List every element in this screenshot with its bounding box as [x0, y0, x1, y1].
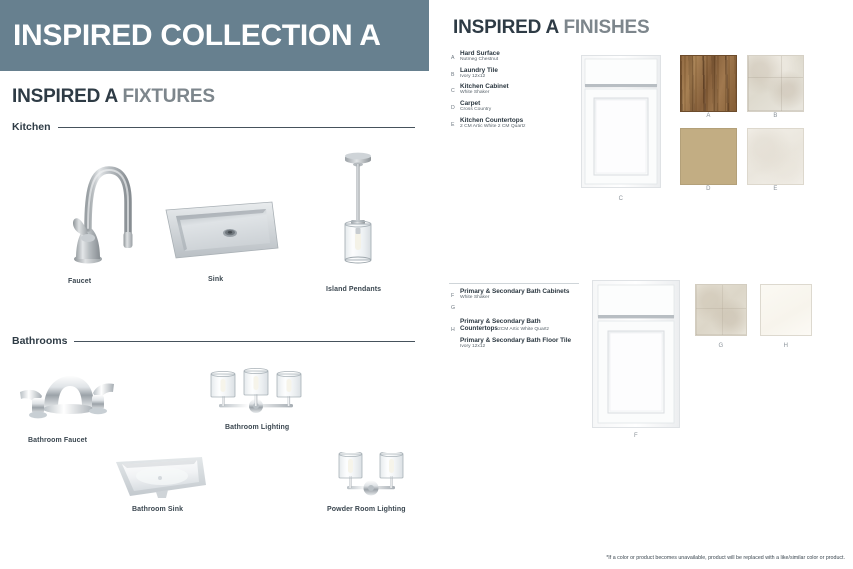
swatch-label-f: F — [592, 433, 680, 439]
group-rule-kitchen — [58, 127, 415, 128]
legend-item-d: D Carpet Cross Country — [451, 100, 586, 113]
legend-item-h: H Primary & Secondary Bath Countertops2C… — [451, 318, 591, 333]
legend-sub-c: White Shaker — [460, 90, 509, 95]
finishes-title-light: FINISHES — [563, 17, 649, 38]
finishes-title-strong: INSPIRED A — [453, 17, 558, 38]
fixture-caption-island-pendants: Island Pendants — [326, 286, 381, 293]
collection-board: INSPIRED COLLECTION A INSPIRED A FIXTURE… — [0, 0, 853, 569]
finishes-column: INSPIRED A FINISHES A Hard Surface Nutme… — [440, 0, 853, 569]
fixtures-column: INSPIRED COLLECTION A INSPIRED A FIXTURE… — [0, 0, 440, 569]
bathroom-sink-image — [110, 452, 210, 502]
powder-room-light-image — [333, 452, 409, 504]
swatch-label-c: C — [581, 196, 661, 202]
laundry-tile-swatch — [747, 55, 804, 112]
kitchen-faucet-image — [62, 146, 134, 266]
group-label-bathrooms: Bathrooms — [12, 335, 74, 347]
kitchen-sink-image — [160, 196, 280, 262]
swatch-label-b: B — [747, 113, 804, 119]
group-header-bathrooms: Bathrooms — [12, 335, 415, 347]
fixtures-section-title: INSPIRED A FIXTURES — [12, 86, 215, 108]
legend-item-c: C Kitchen Cabinet White Shaker — [451, 83, 586, 96]
legend-sub-b: Ivory 12x12 — [460, 74, 498, 79]
swatch-label-h: H — [760, 343, 812, 349]
legend-key-c: C — [451, 83, 460, 94]
legend-sub-a: Nutmeg Chestnut — [460, 57, 500, 62]
legend-item-a: A Hard Surface Nutmeg Chestnut — [451, 50, 586, 63]
fixture-caption-bathroom-sink: Bathroom Sink — [132, 506, 183, 513]
legend-sub-h: 2CM Artic White Quartz — [498, 327, 549, 332]
legend-sub-f: White Shaker — [460, 295, 569, 300]
bath-cabinet-swatch — [592, 280, 680, 428]
legend-item-g: G — [451, 305, 591, 314]
legend-key-a: A — [451, 50, 460, 61]
legend-key-f: F — [451, 288, 460, 299]
page-title: INSPIRED COLLECTION A — [0, 19, 381, 53]
legend-item-e: E Kitchen Countertops 2 CM Artic White 2… — [451, 117, 586, 130]
legend-sub-e: 2 CM Artic White 2 CM Quartz — [460, 124, 526, 129]
legend-divider — [449, 283, 579, 284]
finishes-legend-top: A Hard Surface Nutmeg Chestnut B Laundry… — [451, 50, 586, 133]
legend-name-e: Kitchen Countertops — [460, 117, 526, 124]
bath-floor-tile-swatch — [695, 284, 747, 336]
legend-key-e: E — [451, 117, 460, 128]
legend-item-f: F Primary & Secondary Bath Cabinets Whit… — [451, 288, 591, 301]
island-pendant-image — [335, 150, 381, 270]
legend-sub-d: Cross Country — [460, 107, 491, 112]
swatch-label-d: D — [680, 186, 737, 192]
swatch-label-e: E — [747, 186, 804, 192]
group-header-kitchen: Kitchen — [12, 121, 415, 133]
swatch-label-a: A — [680, 113, 737, 119]
hard-surface-swatch — [680, 55, 737, 112]
finishes-section-title: INSPIRED A FINISHES — [453, 17, 649, 39]
page-banner: INSPIRED COLLECTION A — [0, 0, 429, 71]
legend-key-floor-tile — [451, 337, 460, 342]
legend-key-g: G — [451, 305, 460, 311]
carpet-swatch — [680, 128, 737, 185]
fixtures-title-strong: INSPIRED A — [12, 86, 117, 107]
group-rule-bathrooms — [74, 341, 415, 342]
legend-item-b: B Laundry Tile Ivory 12x12 — [451, 67, 586, 80]
bathroom-faucet-image — [8, 362, 118, 422]
legend-name-b: Laundry Tile — [460, 67, 498, 74]
fixture-caption-bathroom-faucet: Bathroom Faucet — [28, 437, 87, 444]
fixture-caption-powder-room-lighting: Powder Room Lighting — [327, 506, 406, 513]
finishes-legend-bottom: F Primary & Secondary Bath Cabinets Whit… — [451, 288, 591, 353]
legend-key-h: H — [451, 318, 460, 333]
legend-name-floor-tile: Primary & Secondary Bath Floor Tile — [460, 337, 571, 344]
kitchen-countertop-swatch — [747, 128, 804, 185]
fixtures-title-light: FIXTURES — [122, 86, 214, 107]
legend-key-d: D — [451, 100, 460, 111]
kitchen-cabinet-swatch — [581, 55, 661, 188]
bath-countertop-swatch — [760, 284, 812, 336]
legend-sub-floor-tile: Ivory 12x12 — [460, 344, 571, 349]
legend-item-floor-tile: Primary & Secondary Bath Floor Tile Ivor… — [451, 337, 591, 350]
group-label-kitchen: Kitchen — [12, 121, 58, 133]
fixture-caption-bathroom-lighting: Bathroom Lighting — [225, 424, 289, 431]
legend-key-b: B — [451, 67, 460, 78]
footnote-disclaimer: *If a color or product becomes unavailab… — [606, 555, 845, 561]
fixture-caption-sink: Sink — [208, 276, 223, 283]
swatch-label-g: G — [695, 343, 747, 349]
fixture-caption-faucet: Faucet — [68, 278, 91, 285]
bathroom-vanity-light-image — [203, 366, 309, 418]
